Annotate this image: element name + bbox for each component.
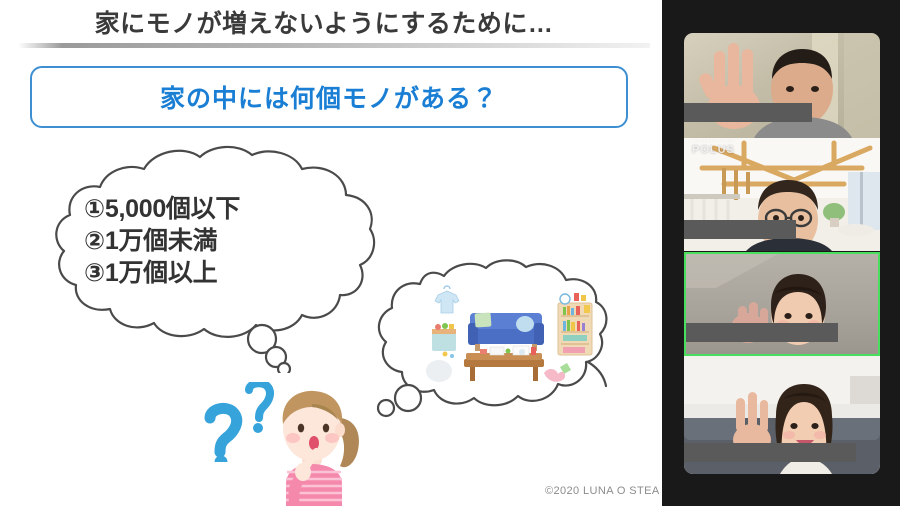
bean-bag-icon [426, 360, 452, 382]
participant-name-redaction-1 [684, 103, 812, 122]
video-tile-participant-3-active[interactable] [684, 252, 880, 356]
answer-options-list: ①5,000個以下 ②1万個未満 ③1万個以上 [84, 193, 344, 289]
coffee-table-icon [464, 346, 544, 381]
toy-box-icon [432, 323, 456, 358]
video-tile-participant-2[interactable]: POLUS THE HOUSE POLUS [684, 138, 880, 251]
polus-watermark-logo: POLUS [692, 144, 735, 156]
sofa-icon [468, 312, 544, 351]
slide-title: 家にモノが増えないようにするために… [0, 4, 648, 40]
video-call-panel: POLUS THE HOUSE POLUS [662, 0, 900, 506]
bookshelf-icon [558, 293, 592, 355]
option-item-2: ②1万個未満 [84, 225, 344, 257]
video-tile-participant-1[interactable] [684, 33, 880, 138]
cluttered-room-illustration [418, 283, 598, 393]
polus-tagline: POLUS THE HOUSE [693, 139, 735, 143]
hanging-shirt-icon [435, 286, 459, 313]
presentation-slide: 家にモノが増えないようにするために… 家の中には何個モノがある？ ①5,000個… [0, 0, 662, 506]
video-tile-participant-4[interactable] [684, 356, 880, 474]
option-item-3: ③1万個以上 [84, 257, 344, 289]
copyright-notice: ©2020 LUNA O STEA [545, 485, 660, 497]
participant-name-redaction-3 [686, 323, 838, 342]
participant-name-redaction-4 [684, 443, 856, 462]
thinking-woman-illustration [258, 380, 368, 506]
participant-name-redaction-2 [684, 220, 796, 239]
screen-root: 家にモノが増えないようにするために… 家の中には何個モノがある？ ①5,000個… [0, 0, 900, 506]
question-callout-box: 家の中には何個モノがある？ [30, 66, 628, 128]
option-item-1: ①5,000個以下 [84, 193, 344, 225]
title-divider [18, 43, 650, 48]
video-feed-1 [684, 33, 880, 138]
question-callout-text: 家の中には何個モノがある？ [160, 79, 498, 115]
